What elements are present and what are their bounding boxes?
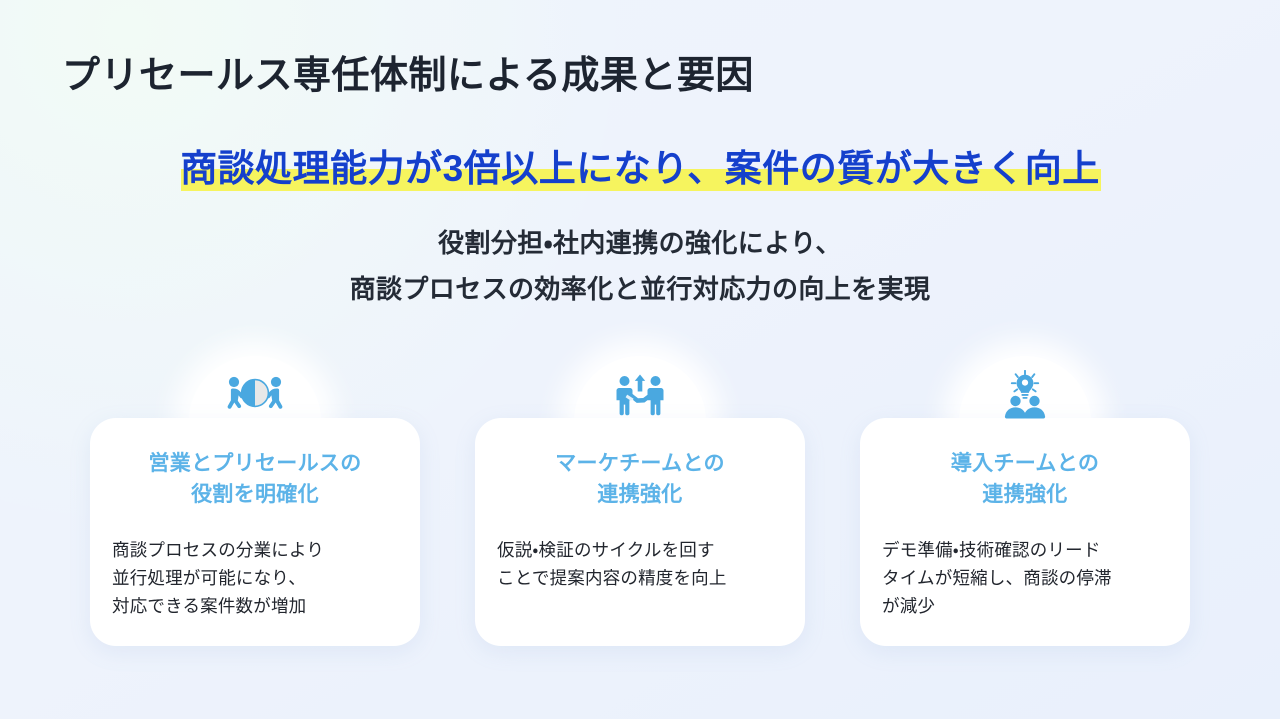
card-text-line-1: デモ準備・技術確認のリード xyxy=(882,536,1176,564)
card-title-line-1: 営業とプリセールスの xyxy=(104,448,406,479)
subcopy-line-2: 商談プロセスの効率化と並行対応力の向上を実現 xyxy=(0,266,1280,312)
card-text-line-3: が減少 xyxy=(882,592,1176,620)
card-title-line-2: 連携強化 xyxy=(489,479,791,510)
card-title: 導入チームとの 連携強化 xyxy=(874,448,1176,510)
two-people-split-circle-icon xyxy=(223,370,287,420)
card-text-line-3: 対応できる案件数が増加 xyxy=(112,592,406,620)
card-text-line-1: 仮説・検証のサイクルを回す xyxy=(497,536,791,564)
card-description: 商談プロセスの分業により 並行処理が可能になり、 対応できる案件数が増加 xyxy=(112,536,406,620)
headline: 商談処理能力が3倍以上になり、案件の質が大きく向上 xyxy=(176,143,1104,195)
factor-card-1[interactable]: 営業とプリセールスの 役割を明確化 商談プロセスの分業により 並行処理が可能にな… xyxy=(90,356,420,646)
card-title-line-1: マーケチームとの xyxy=(489,448,791,479)
card-text-line-2: タイムが短縮し、商談の停滞 xyxy=(882,564,1176,592)
card-text-line-2: 並行処理が可能になり、 xyxy=(112,564,406,592)
card-title-line-1: 導入チームとの xyxy=(874,448,1176,479)
card-title: マーケチームとの 連携強化 xyxy=(489,448,791,510)
factor-card-list: 営業とプリセールスの 役割を明確化 商談プロセスの分業により 並行処理が可能にな… xyxy=(90,356,1190,656)
slide-canvas: プリセールス専任体制による成果と要因 商談処理能力が3倍以上になり、案件の質が大… xyxy=(0,0,1280,719)
card-description: 仮説・検証のサイクルを回す ことで提案内容の精度を向上 xyxy=(497,536,791,592)
card-title-line-2: 役割を明確化 xyxy=(104,479,406,510)
page-title: プリセールス専任体制による成果と要因 xyxy=(62,44,754,99)
subcopy-line-1: 役割分担・社内連携の強化により、 xyxy=(0,220,1280,266)
card-description: デモ準備・技術確認のリード タイムが短縮し、商談の停滞 が減少 xyxy=(882,536,1176,620)
card-title-line-2: 連携強化 xyxy=(874,479,1176,510)
handshake-up-arrow-icon xyxy=(608,370,672,420)
headline-text: 商談処理能力が3倍以上になり、案件の質が大きく向上 xyxy=(180,148,1100,189)
lightbulb-two-people-icon xyxy=(993,370,1057,420)
card-title: 営業とプリセールスの 役割を明確化 xyxy=(104,448,406,510)
factor-card-2[interactable]: マーケチームとの 連携強化 仮説・検証のサイクルを回す ことで提案内容の精度を向… xyxy=(475,356,805,646)
card-text-line-1: 商談プロセスの分業により xyxy=(112,536,406,564)
headline-container: 商談処理能力が3倍以上になり、案件の質が大きく向上 xyxy=(0,143,1280,195)
subcopy: 役割分担・社内連携の強化により、 商談プロセスの効率化と並行対応力の向上を実現 xyxy=(0,220,1280,312)
factor-card-3[interactable]: 導入チームとの 連携強化 デモ準備・技術確認のリード タイムが短縮し、商談の停滞… xyxy=(860,356,1190,646)
card-text-line-2: ことで提案内容の精度を向上 xyxy=(497,564,791,592)
